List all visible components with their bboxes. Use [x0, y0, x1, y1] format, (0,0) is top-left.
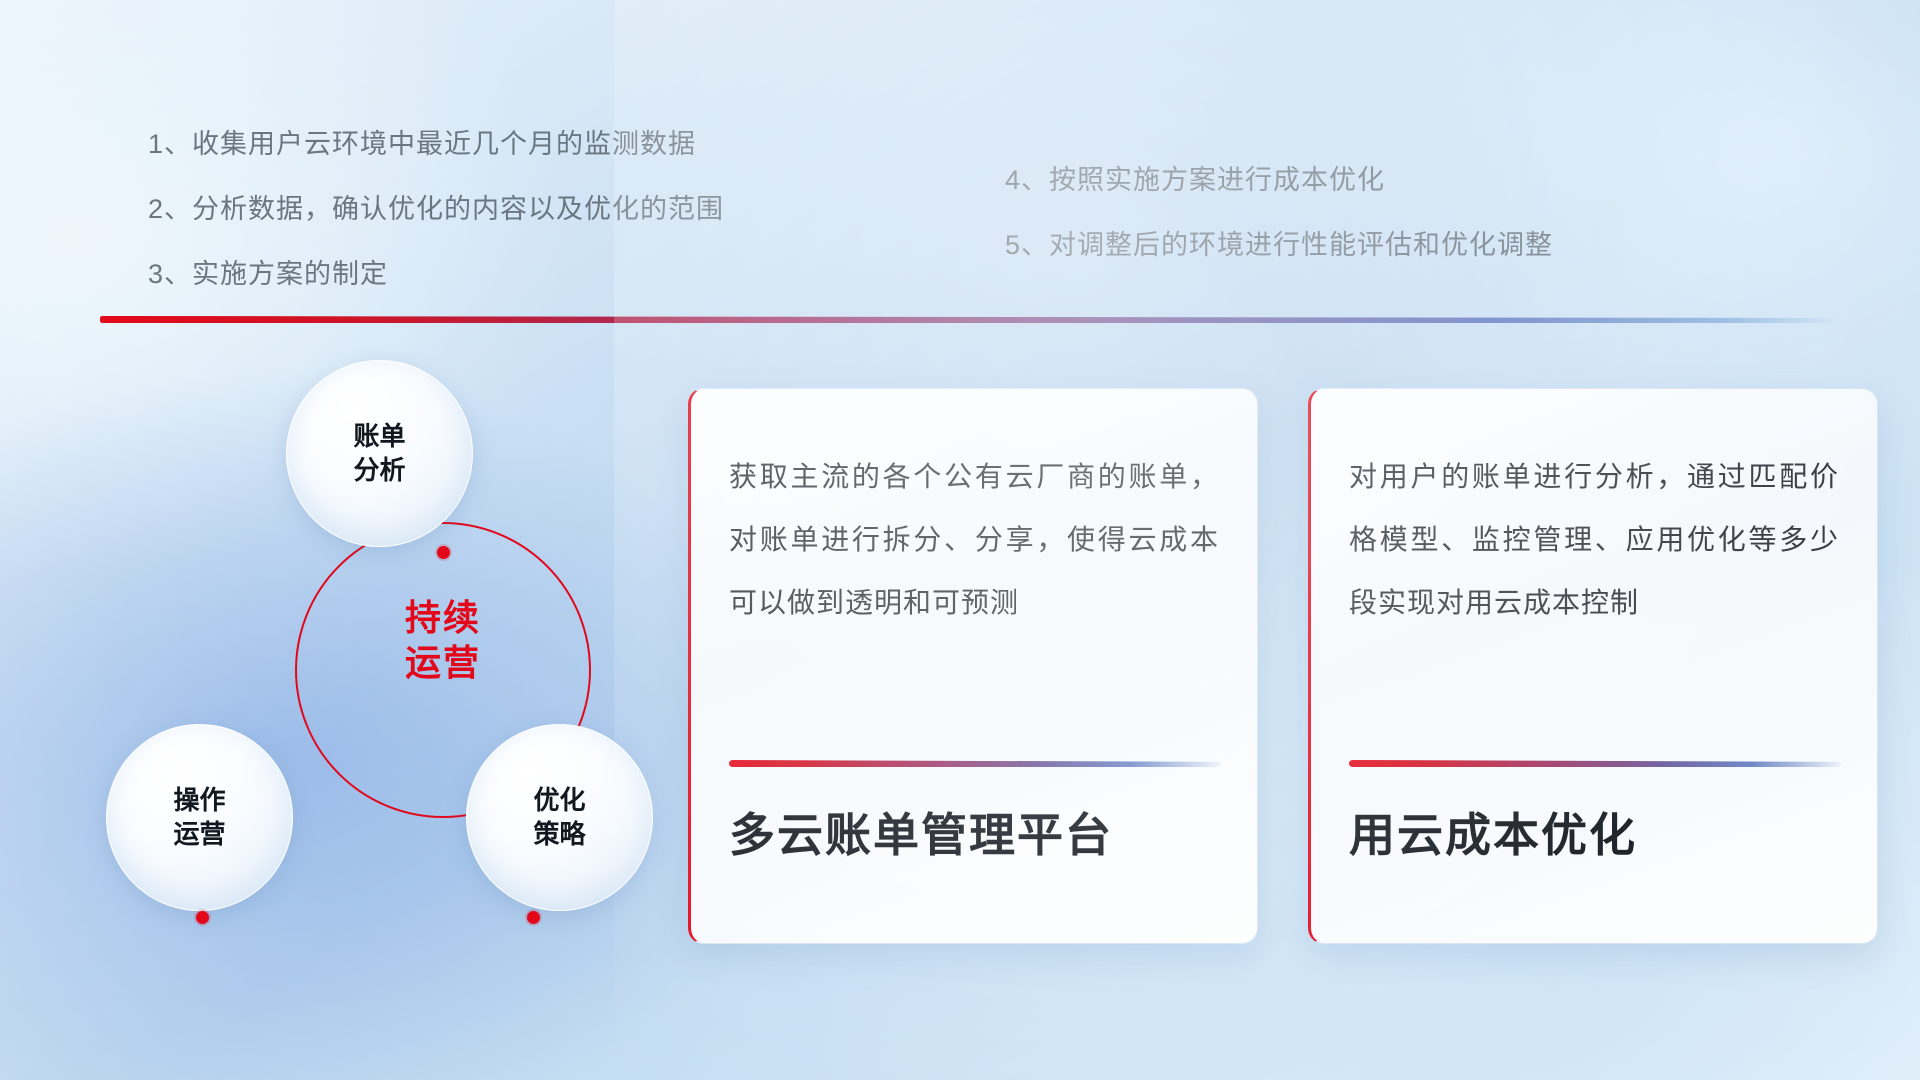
- feature-card-title: 多云账单管理平台: [729, 799, 1113, 865]
- cycle-node-label-line-1: 操作: [173, 784, 225, 817]
- step-item: 3、实施方案的制定: [148, 252, 724, 291]
- feature-card-divider: [729, 760, 1221, 767]
- cycle-connector-dot-top: [437, 546, 450, 559]
- cycle-node-operations[interactable]: 操作 运营: [106, 724, 293, 911]
- feature-card-body: 对用户的账单进行分析，通过匹配价格模型、监控管理、应用优化等多少段实现对用云成本…: [1349, 445, 1839, 634]
- step-item: 5、对调整后的环境进行性能评估和优化调整: [1005, 223, 1553, 262]
- cycle-center-line-1: 持续: [295, 595, 591, 640]
- cycle-center-label: 持续 运营: [295, 595, 591, 686]
- step-item: 1、收集用户云环境中最近几个月的监测数据: [148, 122, 724, 161]
- feature-card-title: 用云成本优化: [1349, 799, 1637, 865]
- cycle-connector-dot-right: [527, 911, 540, 924]
- feature-card-cost-optimization[interactable]: 对用户的账单进行分析，通过匹配价格模型、监控管理、应用优化等多少段实现对用云成本…: [1308, 388, 1878, 944]
- feature-card-divider: [1349, 760, 1841, 767]
- cycle-connector-dot-left: [196, 911, 209, 924]
- section-divider-rule: [100, 316, 1840, 323]
- cycle-center-line-2: 运营: [295, 640, 591, 685]
- cycle-node-label-line-1: 账单: [353, 420, 405, 453]
- feature-card-multicloud-billing[interactable]: 获取主流的各个公有云厂商的账单，对账单进行拆分、分享，使得云成本可以做到透明和可…: [688, 388, 1258, 944]
- cycle-node-label-line-1: 优化: [533, 784, 585, 817]
- cycle-node-label-line-2: 分析: [353, 454, 405, 487]
- slide-canvas: 1、收集用户云环境中最近几个月的监测数据 2、分析数据，确认优化的内容以及优化的…: [0, 0, 1920, 1080]
- cycle-node-label-line-2: 策略: [533, 818, 585, 851]
- feature-card-body: 获取主流的各个公有云厂商的账单，对账单进行拆分、分享，使得云成本可以做到透明和可…: [729, 445, 1219, 634]
- cycle-diagram: 持续 运营 账单 分析 操作 运营 优化 策略: [100, 350, 660, 950]
- steps-right-column: 4、按照实施方案进行成本优化 5、对调整后的环境进行性能评估和优化调整: [1005, 158, 1553, 288]
- cycle-node-billing-analysis[interactable]: 账单 分析: [286, 360, 473, 547]
- cycle-node-label-line-2: 运营: [173, 818, 225, 851]
- steps-left-column: 1、收集用户云环境中最近几个月的监测数据 2、分析数据，确认优化的内容以及优化的…: [148, 122, 724, 317]
- cycle-node-optimization-strategy[interactable]: 优化 策略: [466, 724, 653, 911]
- step-item: 4、按照实施方案进行成本优化: [1005, 158, 1553, 197]
- step-item: 2、分析数据，确认优化的内容以及优化的范围: [148, 187, 724, 226]
